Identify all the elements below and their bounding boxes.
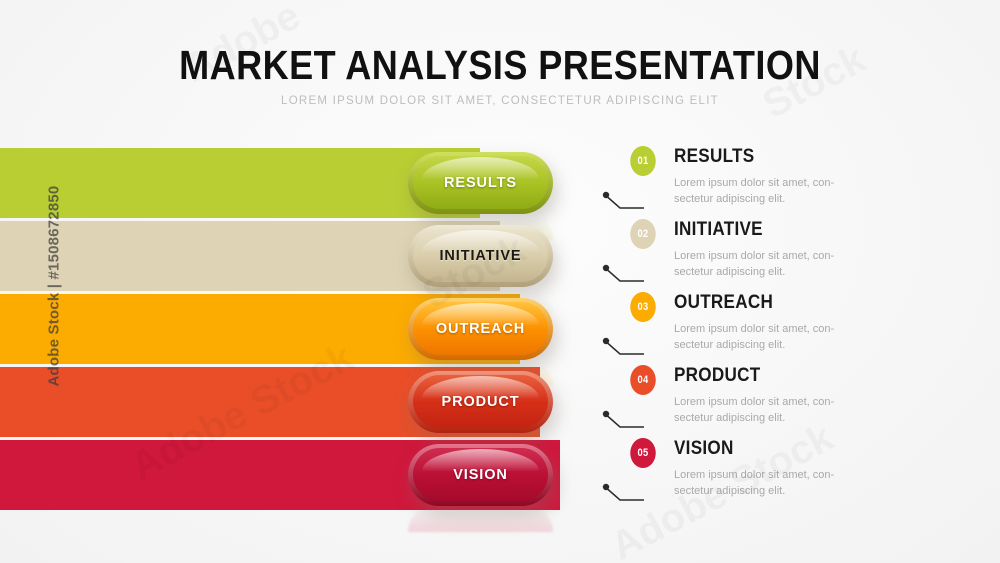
legend-number-badge: 03 xyxy=(630,292,656,322)
legend-body-text: Lorem ipsum dolor sit amet, con-sectetur… xyxy=(674,249,864,280)
pill-button-results[interactable]: RESULTS xyxy=(408,152,553,214)
page-title: MARKET ANALYSIS PRESENTATION xyxy=(60,42,940,88)
header: MARKET ANALYSIS PRESENTATION LOREM IPSUM… xyxy=(0,42,1000,107)
legend-body-text: Lorem ipsum dolor sit amet, con-sectetur… xyxy=(674,322,864,353)
pill-label: PRODUCT xyxy=(408,371,553,433)
pill-button-vision[interactable]: VISION xyxy=(408,444,553,506)
pill-label: RESULTS xyxy=(408,152,553,214)
legend-number-badge: 04 xyxy=(630,365,656,395)
legend-body-text: Lorem ipsum dolor sit amet, con-sectetur… xyxy=(674,176,864,207)
infographic-canvas: Adobe Stock Adobe Stock Adobe Stock Stoc… xyxy=(0,0,1000,563)
legend-heading: INITIATIVE xyxy=(674,219,763,241)
pill-label: OUTREACH xyxy=(408,298,553,360)
pill-button-outreach[interactable]: OUTREACH xyxy=(408,298,553,360)
watermark-label: Adobe Stock | #1508672850 xyxy=(46,87,63,387)
legend: 01RESULTSLorem ipsum dolor sit amet, con… xyxy=(628,146,958,511)
pill-label: INITIATIVE xyxy=(408,225,553,287)
page-subtitle: LOREM IPSUM DOLOR SIT AMET, CONSECTETUR … xyxy=(0,95,1000,107)
pill-label: VISION xyxy=(408,444,553,506)
pill-button-initiative[interactable]: INITIATIVE xyxy=(408,225,553,287)
legend-heading: VISION xyxy=(674,438,734,460)
legend-heading: OUTREACH xyxy=(674,292,773,314)
legend-number-badge: 01 xyxy=(630,146,656,176)
legend-number-badge: 05 xyxy=(630,438,656,468)
legend-item-initiative[interactable]: 02INITIATIVELorem ipsum dolor sit amet, … xyxy=(628,219,958,292)
legend-heading: PRODUCT xyxy=(674,365,760,387)
legend-item-vision[interactable]: 05VISIONLorem ipsum dolor sit amet, con-… xyxy=(628,438,958,511)
pill-button-product[interactable]: PRODUCT xyxy=(408,371,553,433)
legend-number-badge: 02 xyxy=(630,219,656,249)
legend-body-text: Lorem ipsum dolor sit amet, con-sectetur… xyxy=(674,395,864,426)
legend-heading: RESULTS xyxy=(674,146,754,168)
legend-item-product[interactable]: 04PRODUCTLorem ipsum dolor sit amet, con… xyxy=(628,365,958,438)
legend-item-results[interactable]: 01RESULTSLorem ipsum dolor sit amet, con… xyxy=(628,146,958,219)
legend-item-outreach[interactable]: 03OUTREACHLorem ipsum dolor sit amet, co… xyxy=(628,292,958,365)
legend-body-text: Lorem ipsum dolor sit amet, con-sectetur… xyxy=(674,468,864,499)
